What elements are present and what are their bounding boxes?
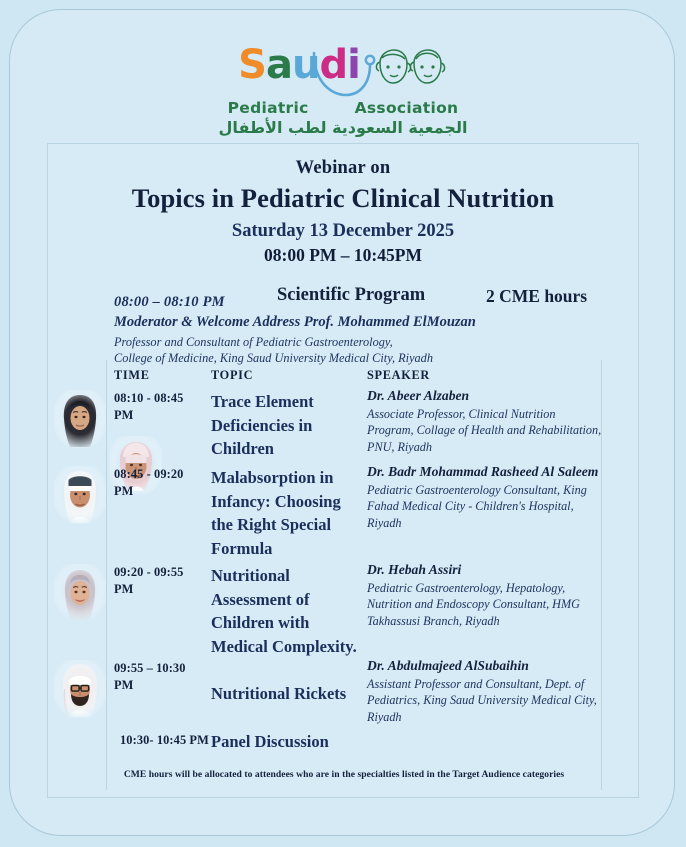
- speaker-avatar: [54, 660, 106, 718]
- logo-subtitle-pediatric: Pediatric: [228, 99, 309, 117]
- table-left-divider: [106, 360, 107, 790]
- row-speaker-name: Dr. Abdulmajeed AlSubaihin: [367, 658, 605, 674]
- avatar-woman-dark-hijab: [54, 390, 106, 448]
- row-speaker: Dr. Abdulmajeed AlSubaihin Assistant Pro…: [367, 658, 605, 725]
- row-speaker-affiliation: Pediatric Gastroenterology, Hepatology, …: [367, 580, 605, 629]
- row-time: 08:45 - 09:20 PM: [114, 466, 206, 499]
- row-speaker: Dr. Abeer Alzaben Associate Professor, C…: [367, 388, 605, 455]
- program-panel: Webinar on Topics in Pediatric Clinical …: [47, 143, 639, 798]
- row-speaker: Dr. Hebah Assiri Pediatric Gastroenterol…: [367, 562, 605, 629]
- column-header-topic: TOPIC: [211, 368, 253, 383]
- row-speaker-affiliation: Assistant Professor and Consultant, Dept…: [367, 676, 605, 725]
- logo-letter-i: i: [347, 42, 360, 88]
- table-column-headers: TIME TOPIC SPEAKER: [48, 368, 640, 386]
- moderator-time: 08:00 – 08:10 PM: [114, 294, 624, 311]
- logo-subtitle-association: Association: [355, 99, 459, 117]
- moderator-affiliation: Professor and Consultant of Pediatric Ga…: [114, 334, 624, 367]
- webinar-label: Webinar on: [48, 158, 638, 179]
- row-time: 09:55 – 10:30 PM: [114, 660, 206, 693]
- row-topic: Nutritional Assessment of Children with …: [211, 564, 359, 658]
- moderator-block: 08:00 – 08:10 PM Moderator & Welcome Add…: [114, 294, 624, 367]
- moderator-affiliation-line2: College of Medicine, King Saud Universit…: [114, 350, 624, 366]
- row-topic: Nutritional Rickets: [211, 682, 359, 706]
- row-time: 10:30- 10:45 PM: [120, 732, 212, 749]
- event-heading: Webinar on Topics in Pediatric Clinical …: [48, 158, 638, 266]
- row-speaker-name: Dr. Badr Mohammad Rasheed Al Saleem: [367, 464, 605, 480]
- two-children-faces-icon: [370, 47, 448, 95]
- avatar-man-glasses-beard: [54, 660, 106, 718]
- row-speaker: Dr. Badr Mohammad Rasheed Al Saleem Pedi…: [367, 464, 605, 531]
- saudi-wordmark: Saudi: [238, 45, 360, 85]
- logo-arabic-name: الجمعية السعودية لطب الأطفال: [0, 118, 686, 137]
- column-header-speaker: SPEAKER: [367, 368, 430, 383]
- logo-row: Saudi: [238, 45, 448, 95]
- logo-letter-s: S: [238, 42, 266, 88]
- logo-letter-u: u: [292, 42, 319, 88]
- row-speaker-name: Dr. Hebah Assiri: [367, 562, 605, 578]
- association-logo: Saudi: [0, 45, 686, 137]
- column-header-time: TIME: [114, 368, 150, 383]
- row-topic: Malabsorption in Infancy: Choosing the R…: [211, 466, 359, 560]
- speaker-avatar: [54, 466, 106, 524]
- row-topic: Panel Discussion: [211, 730, 359, 754]
- speaker-avatar: [54, 390, 106, 448]
- moderator-name: Moderator & Welcome Address Prof. Mohamm…: [114, 314, 624, 331]
- cme-footnote: CME hours will be allocated to attendees…: [48, 769, 640, 780]
- row-speaker-name: Dr. Abeer Alzaben: [367, 388, 605, 404]
- event-time: 08:00 PM – 10:45PM: [48, 245, 638, 266]
- event-date: Saturday 13 December 2025: [48, 221, 638, 242]
- row-time: 08:10 - 08:45 PM: [114, 390, 206, 423]
- moderator-affiliation-line1: Professor and Consultant of Pediatric Ga…: [114, 334, 624, 350]
- logo-letter-a: a: [266, 42, 292, 88]
- row-speaker-affiliation: Associate Professor, Clinical Nutrition …: [367, 406, 605, 455]
- row-topic: Trace Element Deficiencies in Children: [211, 390, 359, 461]
- logo-subtitle: PediatricAssociation: [0, 99, 686, 117]
- avatar-woman-light-hijab: [54, 564, 106, 622]
- speaker-avatar: [54, 564, 106, 622]
- page-title: Topics in Pediatric Clinical Nutrition: [48, 183, 638, 214]
- row-time: 09:20 - 09:55 PM: [114, 564, 206, 597]
- avatar-man-white-ghutra: [54, 466, 106, 524]
- row-speaker-affiliation: Pediatric Gastroenterology Consultant, K…: [367, 482, 605, 531]
- logo-letter-d: d: [319, 42, 347, 88]
